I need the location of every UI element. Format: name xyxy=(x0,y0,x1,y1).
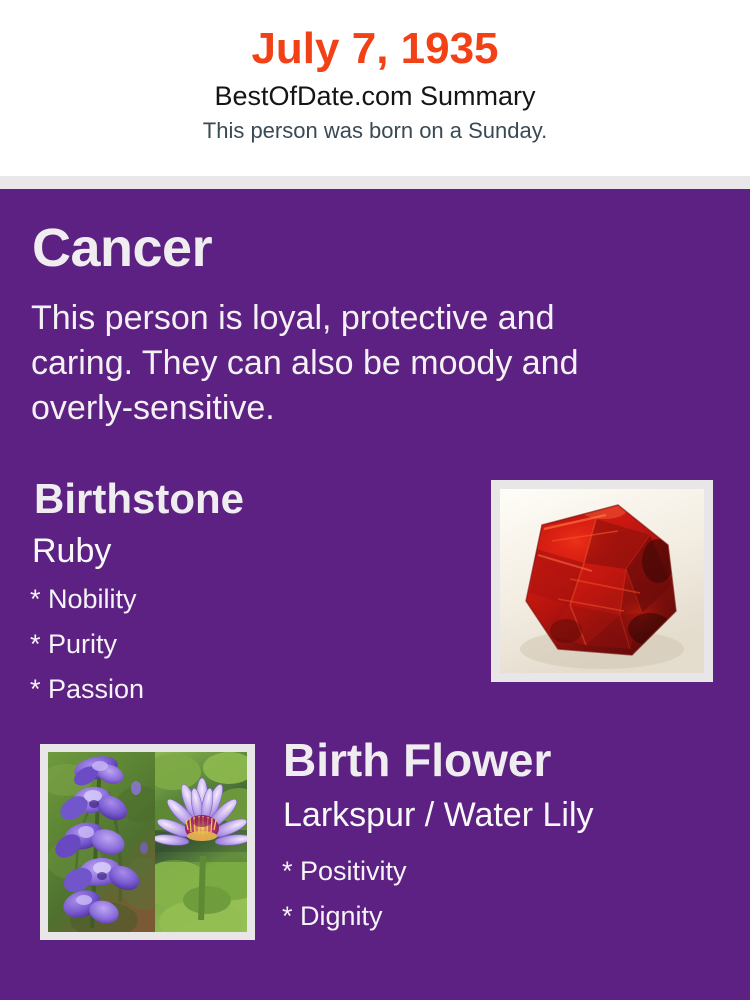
larkspur-graphic xyxy=(48,752,155,932)
birth-flower-name: Larkspur / Water Lily xyxy=(283,798,594,832)
birth-flower-image xyxy=(48,752,247,932)
zodiac-description: This person is loyal, protective and car… xyxy=(31,296,651,431)
header: July 7, 1935 BestOfDate.com Summary This… xyxy=(0,0,750,176)
birthstone-image-frame xyxy=(491,480,713,682)
list-item: * Positivity xyxy=(282,858,407,885)
list-item: * Nobility xyxy=(30,586,144,613)
birth-flower-trait-list: * Positivity * Dignity xyxy=(282,858,407,948)
list-item: * Passion xyxy=(30,676,144,703)
header-divider xyxy=(0,176,750,189)
summary-card: July 7, 1935 BestOfDate.com Summary This… xyxy=(0,0,750,1000)
ruby-crystal-graphic xyxy=(500,489,704,673)
birth-flower-heading: Birth Flower xyxy=(283,737,551,783)
birth-flower-image-frame xyxy=(40,744,255,940)
birthstone-trait-list: * Nobility * Purity * Passion xyxy=(30,586,144,721)
birth-day-note: This person was born on a Sunday. xyxy=(0,113,750,144)
page-title-date: July 7, 1935 xyxy=(0,0,750,72)
list-item: * Purity xyxy=(30,631,144,658)
water-lily-graphic xyxy=(155,752,247,932)
birthstone-name: Ruby xyxy=(32,534,111,568)
ruby-image xyxy=(500,489,704,673)
site-summary-label: BestOfDate.com Summary xyxy=(0,72,750,112)
water-lily-photo xyxy=(155,752,247,932)
list-item: * Dignity xyxy=(282,903,407,930)
larkspur-photo xyxy=(48,752,155,932)
zodiac-sign-heading: Cancer xyxy=(32,221,212,275)
birthstone-heading: Birthstone xyxy=(34,478,244,520)
